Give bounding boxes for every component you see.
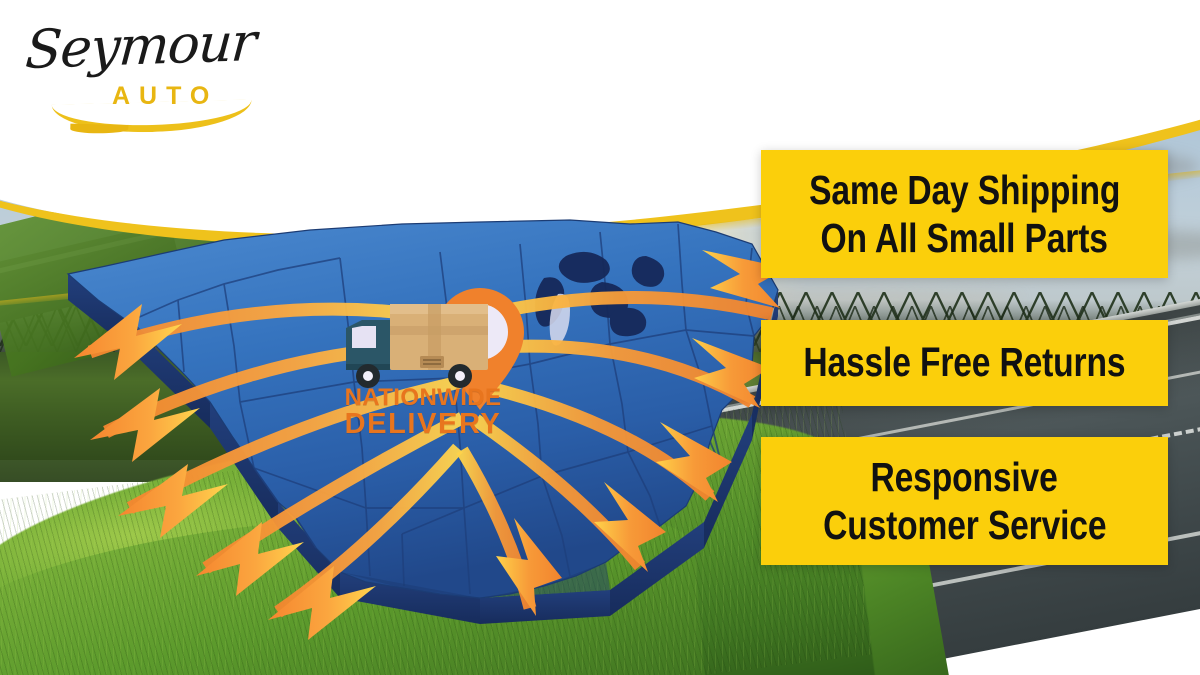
banner-root: Seymour AUTO [0, 0, 1200, 675]
badge-line-nationwide: NATIONWIDE [345, 384, 502, 411]
callout-line: Hassle Free Returns [803, 340, 1125, 385]
logo-sub-name: AUTO [112, 82, 218, 111]
callout-line: Responsive [871, 453, 1058, 501]
delivery-truck-icon [346, 304, 488, 388]
callout-line: Same Day Shipping [809, 166, 1120, 214]
callout-line: On All Small Parts [821, 214, 1108, 262]
badge-text-block: NATIONWIDE DELIVERY [328, 386, 518, 439]
badge-line-delivery: DELIVERY [345, 408, 502, 440]
callout-hassle-free-returns[interactable]: Hassle Free Returns [761, 320, 1168, 406]
nationwide-delivery-badge: NATIONWIDE DELIVERY [328, 282, 548, 452]
logo-script-name: Seymour [24, 12, 258, 81]
callout-line: Customer Service [823, 501, 1106, 549]
brand-logo[interactable]: Seymour AUTO [26, 14, 256, 124]
callout-same-day-shipping[interactable]: Same Day Shipping On All Small Parts [761, 150, 1168, 278]
callout-responsive-customer-service[interactable]: Responsive Customer Service [761, 437, 1168, 565]
